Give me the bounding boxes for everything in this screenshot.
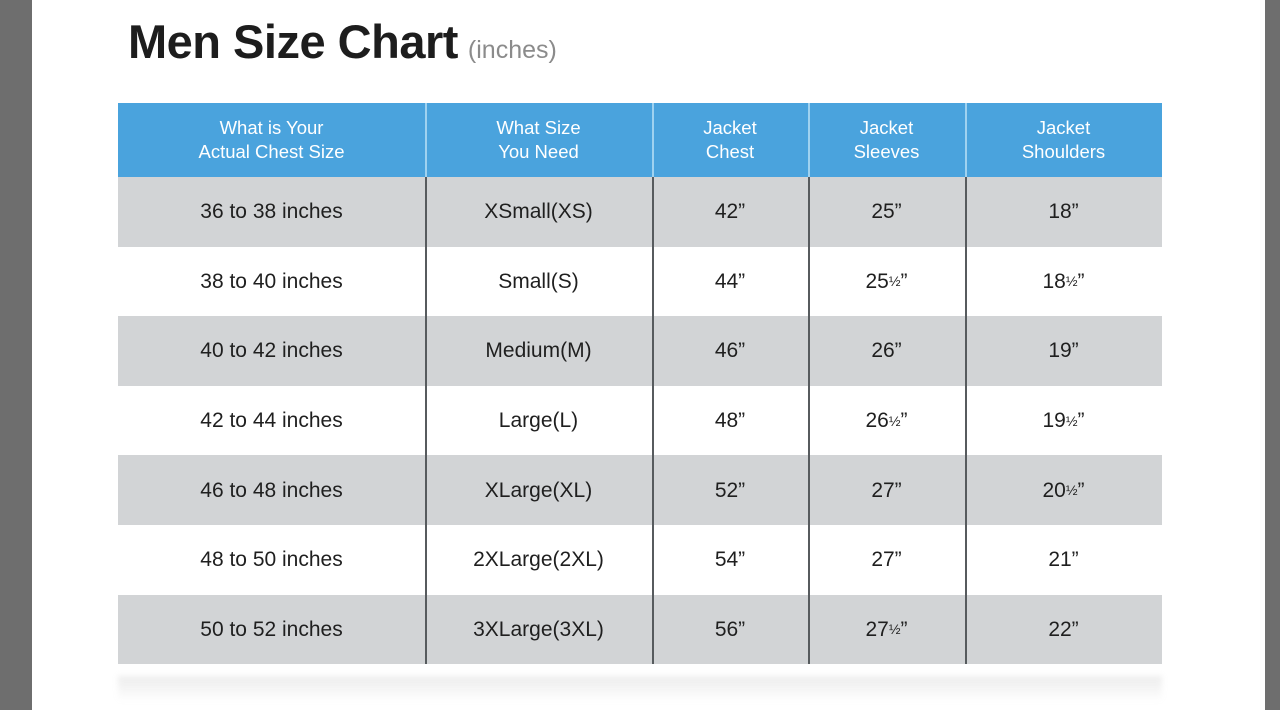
cell-jacket-sleeves: 27” bbox=[808, 455, 965, 525]
table-reflection bbox=[118, 676, 1162, 702]
slide-page: Men Size Chart (inches) What is Your Act… bbox=[32, 0, 1265, 710]
cell-chest-range: 40 to 42 inches bbox=[118, 316, 425, 386]
column-header-jacket-sleeves: Jacket Sleeves bbox=[808, 103, 965, 177]
cell-size-needed: 3XLarge(3XL) bbox=[425, 595, 652, 665]
column-header-line2: Shoulders bbox=[1022, 140, 1105, 164]
cell-jacket-sleeves: 25” bbox=[808, 177, 965, 247]
column-header-line1: Jacket bbox=[860, 116, 913, 140]
cell-size-needed: XSmall(XS) bbox=[425, 177, 652, 247]
column-header-line2: Chest bbox=[706, 140, 754, 164]
cell-chest-range: 48 to 50 inches bbox=[118, 525, 425, 595]
cell-jacket-chest: 42” bbox=[652, 177, 808, 247]
column-header-line2: Sleeves bbox=[854, 140, 920, 164]
cell-jacket-chest: 48” bbox=[652, 386, 808, 456]
size-chart-table: What is Your Actual Chest Size What Size… bbox=[118, 103, 1162, 664]
column-header-jacket-shoulders: Jacket Shoulders bbox=[965, 103, 1162, 177]
cell-chest-range: 38 to 40 inches bbox=[118, 247, 425, 317]
cell-jacket-shoulders: 22” bbox=[965, 595, 1162, 665]
table-row: 48 to 50 inches 2XLarge(2XL) 54” 27” 21” bbox=[118, 525, 1162, 595]
table-body: 36 to 38 inches XSmall(XS) 42” 25” 18” 3… bbox=[118, 177, 1162, 664]
table-row: 40 to 42 inches Medium(M) 46” 26” 19” bbox=[118, 316, 1162, 386]
cell-jacket-sleeves: 26½” bbox=[808, 386, 965, 456]
table-row: 42 to 44 inches Large(L) 48” 26½” 19½” bbox=[118, 386, 1162, 456]
cell-size-needed: Large(L) bbox=[425, 386, 652, 456]
cell-jacket-chest: 56” bbox=[652, 595, 808, 665]
letterbox-bar-right bbox=[1265, 0, 1280, 710]
page-title: Men Size Chart (inches) bbox=[128, 18, 557, 65]
table-row: 38 to 40 inches Small(S) 44” 25½” 18½” bbox=[118, 247, 1162, 317]
column-header-line1: What Size bbox=[496, 116, 580, 140]
cell-jacket-chest: 46” bbox=[652, 316, 808, 386]
letterbox-bar-left bbox=[0, 0, 32, 710]
column-header-size-you-need: What Size You Need bbox=[425, 103, 652, 177]
cell-size-needed: Medium(M) bbox=[425, 316, 652, 386]
slide-stage: Men Size Chart (inches) What is Your Act… bbox=[0, 0, 1280, 710]
cell-chest-range: 36 to 38 inches bbox=[118, 177, 425, 247]
cell-jacket-sleeves: 27½” bbox=[808, 595, 965, 665]
column-header-actual-chest-size: What is Your Actual Chest Size bbox=[118, 103, 425, 177]
page-title-main: Men Size Chart bbox=[128, 18, 458, 65]
cell-jacket-sleeves: 27” bbox=[808, 525, 965, 595]
cell-size-needed: Small(S) bbox=[425, 247, 652, 317]
column-header-jacket-chest: Jacket Chest bbox=[652, 103, 808, 177]
cell-jacket-shoulders: 19” bbox=[965, 316, 1162, 386]
cell-jacket-chest: 44” bbox=[652, 247, 808, 317]
cell-chest-range: 50 to 52 inches bbox=[118, 595, 425, 665]
table-row: 50 to 52 inches 3XLarge(3XL) 56” 27½” 22… bbox=[118, 595, 1162, 665]
cell-jacket-shoulders: 18½” bbox=[965, 247, 1162, 317]
cell-jacket-chest: 52” bbox=[652, 455, 808, 525]
cell-jacket-shoulders: 18” bbox=[965, 177, 1162, 247]
page-title-units: (inches) bbox=[468, 38, 557, 63]
cell-jacket-shoulders: 21” bbox=[965, 525, 1162, 595]
cell-jacket-sleeves: 26” bbox=[808, 316, 965, 386]
cell-jacket-shoulders: 19½” bbox=[965, 386, 1162, 456]
table-header-row: What is Your Actual Chest Size What Size… bbox=[118, 103, 1162, 177]
column-header-line1: Jacket bbox=[703, 116, 756, 140]
column-header-line2: You Need bbox=[498, 140, 579, 164]
table-row: 36 to 38 inches XSmall(XS) 42” 25” 18” bbox=[118, 177, 1162, 247]
cell-chest-range: 46 to 48 inches bbox=[118, 455, 425, 525]
cell-jacket-sleeves: 25½” bbox=[808, 247, 965, 317]
cell-size-needed: XLarge(XL) bbox=[425, 455, 652, 525]
table-row: 46 to 48 inches XLarge(XL) 52” 27” 20½” bbox=[118, 455, 1162, 525]
cell-jacket-chest: 54” bbox=[652, 525, 808, 595]
cell-jacket-shoulders: 20½” bbox=[965, 455, 1162, 525]
column-header-line1: Jacket bbox=[1037, 116, 1090, 140]
cell-chest-range: 42 to 44 inches bbox=[118, 386, 425, 456]
column-header-line2: Actual Chest Size bbox=[198, 140, 344, 164]
column-header-line1: What is Your bbox=[220, 116, 324, 140]
cell-size-needed: 2XLarge(2XL) bbox=[425, 525, 652, 595]
